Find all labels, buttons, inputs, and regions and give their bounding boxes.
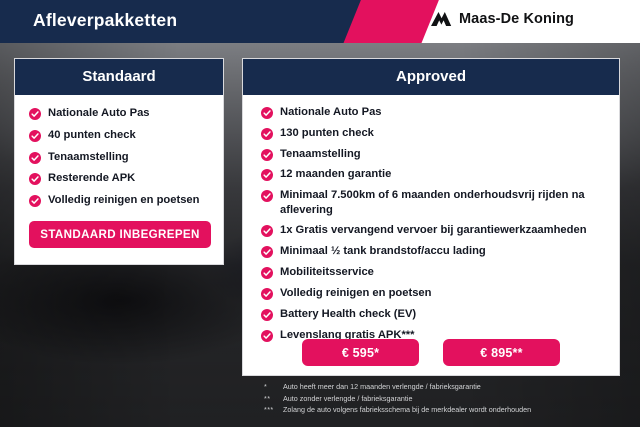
check-circle-icon: [261, 169, 273, 181]
price-button-895[interactable]: € 895**: [443, 339, 560, 366]
feature-list-approved: Nationale Auto Pas 130 punten check Tena…: [261, 105, 619, 342]
price-button-row: € 595* € 895**: [243, 339, 619, 366]
package-card-approved: Approved Nationale Auto Pas 130 punten c…: [242, 58, 620, 376]
list-item: 130 punten check: [261, 126, 619, 140]
feature-text: 130 punten check: [280, 126, 374, 140]
list-item: Volledig reinigen en poetsen: [261, 286, 619, 300]
brand-logo: Maas-De Koning: [430, 11, 574, 27]
package-card-standaard: Standaard Nationale Auto Pas 40 punten c…: [14, 58, 224, 265]
check-circle-icon: [29, 152, 41, 164]
check-circle-icon: [29, 108, 41, 120]
list-item: Battery Health check (EV): [261, 307, 619, 321]
top-banner: Afleverpakketten Maas-De Koning: [0, 0, 640, 43]
check-circle-icon: [261, 149, 273, 161]
list-item: Nationale Auto Pas: [261, 105, 619, 119]
check-circle-icon: [29, 130, 41, 142]
feature-text: Minimaal 7.500km of 6 maanden onderhouds…: [280, 188, 619, 217]
list-item: 1x Gratis vervangend vervoer bij garanti…: [261, 223, 619, 237]
check-circle-icon: [261, 107, 273, 119]
list-item: 40 punten check: [29, 128, 223, 142]
feature-text: Minimaal ½ tank brandstof/accu lading: [280, 244, 486, 258]
footnote-text: Auto heeft meer dan 12 maanden verlengde…: [283, 381, 481, 393]
card-heading-standaard: Standaard: [15, 59, 223, 95]
feature-list-standaard: Nationale Auto Pas 40 punten check Tenaa…: [29, 106, 223, 208]
card-body-approved: Nationale Auto Pas 130 punten check Tena…: [243, 105, 619, 342]
feature-text: Nationale Auto Pas: [280, 105, 382, 119]
page-title: Afleverpakketten: [33, 10, 177, 31]
footnote-marker: *: [264, 381, 277, 393]
footnote-text: Zolang de auto volgens fabrieksschema bi…: [283, 404, 531, 416]
list-item: Tenaamstelling: [261, 147, 619, 161]
maas-de-koning-logo-icon: [430, 11, 452, 27]
standaard-inbegrepen-button[interactable]: STANDAARD INBEGREPEN: [29, 221, 211, 248]
feature-text: Tenaamstelling: [280, 147, 361, 161]
footnotes: * Auto heeft meer dan 12 maanden verleng…: [264, 381, 531, 416]
footnote-marker: **: [264, 393, 277, 405]
feature-text: Volledig reinigen en poetsen: [280, 286, 431, 300]
check-circle-icon: [261, 246, 273, 258]
footnote-row: *** Zolang de auto volgens fabrieksschem…: [264, 404, 531, 416]
feature-text: Tenaamstelling: [48, 150, 129, 164]
check-circle-icon: [261, 288, 273, 300]
list-item: Resterende APK: [29, 171, 223, 185]
feature-text: 1x Gratis vervangend vervoer bij garanti…: [280, 223, 587, 237]
price-button-595[interactable]: € 595*: [302, 339, 419, 366]
list-item: Volledig reinigen en poetsen: [29, 193, 223, 207]
brand-name: Maas-De Koning: [459, 11, 574, 27]
check-circle-icon: [261, 190, 273, 202]
footnote-row: ** Auto zonder verlengde / fabrieksgaran…: [264, 393, 531, 405]
feature-text: Resterende APK: [48, 171, 135, 185]
card-heading-approved: Approved: [243, 59, 619, 95]
list-item: Minimaal 7.500km of 6 maanden onderhouds…: [261, 188, 619, 217]
check-circle-icon: [261, 309, 273, 321]
list-item: Mobiliteitsservice: [261, 265, 619, 279]
check-circle-icon: [261, 267, 273, 279]
page-root: Afleverpakketten Maas-De Koning Standaar…: [0, 0, 640, 427]
feature-text: Nationale Auto Pas: [48, 106, 150, 120]
check-circle-icon: [29, 195, 41, 207]
list-item: Tenaamstelling: [29, 150, 223, 164]
check-circle-icon: [261, 225, 273, 237]
feature-text: Battery Health check (EV): [280, 307, 416, 321]
feature-text: 12 maanden garantie: [280, 167, 391, 181]
feature-text: 40 punten check: [48, 128, 136, 142]
check-circle-icon: [29, 173, 41, 185]
check-circle-icon: [261, 128, 273, 140]
feature-text: Volledig reinigen en poetsen: [48, 193, 199, 207]
list-item: Nationale Auto Pas: [29, 106, 223, 120]
footnote-row: * Auto heeft meer dan 12 maanden verleng…: [264, 381, 531, 393]
list-item: 12 maanden garantie: [261, 167, 619, 181]
footnote-marker: ***: [264, 404, 277, 416]
card-body-standaard: Nationale Auto Pas 40 punten check Tenaa…: [15, 106, 223, 208]
feature-text: Mobiliteitsservice: [280, 265, 374, 279]
footnote-text: Auto zonder verlengde / fabrieksgarantie: [283, 393, 412, 405]
list-item: Minimaal ½ tank brandstof/accu lading: [261, 244, 619, 258]
